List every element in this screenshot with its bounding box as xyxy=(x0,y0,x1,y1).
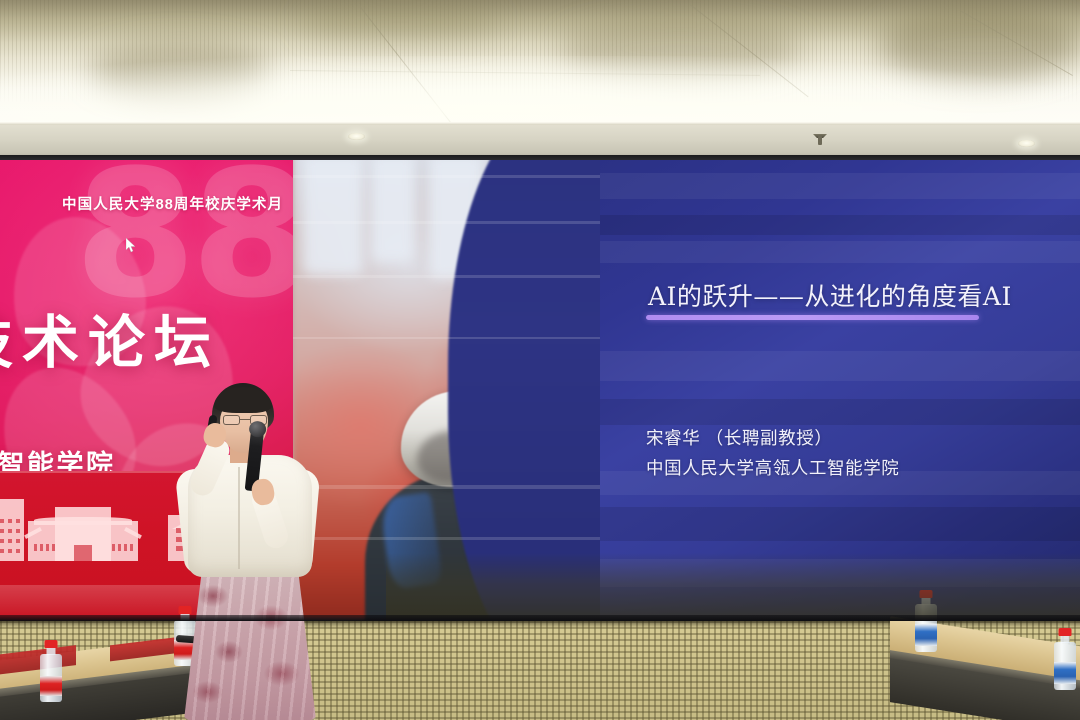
banner-event-header: 中国人民大学88周年校庆学术月 xyxy=(62,193,283,214)
slide-title-underline xyxy=(646,315,979,320)
building-roof-icon xyxy=(34,517,132,525)
led-video-wall: 88 中国人民大学88周年校庆学术月 技术论坛 工智能学院 xyxy=(0,155,1080,621)
banner-forum-title: 技术论坛 xyxy=(0,297,220,379)
sprinkler-icon xyxy=(813,132,827,146)
anniversary-number: 88 xyxy=(74,163,293,307)
screen-bezel xyxy=(0,155,1080,160)
screenshot-root: 88 中国人民大学88周年校庆学术月 技术论坛 工智能学院 xyxy=(0,0,1080,720)
photo-window-icon xyxy=(303,155,363,275)
slide-presenter-name: 宋睿华 （长聘副教授） xyxy=(646,425,832,450)
ceiling xyxy=(0,0,1080,126)
photo-window-icon xyxy=(371,155,415,263)
slide-affiliation: 中国人民大学高瓴人工智能学院 xyxy=(646,455,899,480)
photo-arch-mask xyxy=(448,155,600,621)
water-bottle[interactable] xyxy=(38,640,64,702)
water-bottle[interactable] xyxy=(913,590,939,652)
water-bottle[interactable] xyxy=(1052,628,1078,690)
screen-bottom-bezel xyxy=(0,615,1080,621)
speaker-person xyxy=(168,383,344,720)
slide-title: AI的跃升——从进化的角度看AI xyxy=(648,277,1068,313)
mouse-cursor-icon xyxy=(126,238,136,253)
downlight-icon xyxy=(1018,140,1035,147)
speaker-cardigan-seam xyxy=(238,467,240,569)
presentation-slide-panel: AI的跃升——从进化的角度看AI 宋睿华 （长聘副教授） 中国人民大学高瓴人工智… xyxy=(600,155,1080,621)
downlight-icon xyxy=(348,133,365,140)
speaker-skirt-folds xyxy=(184,565,316,720)
